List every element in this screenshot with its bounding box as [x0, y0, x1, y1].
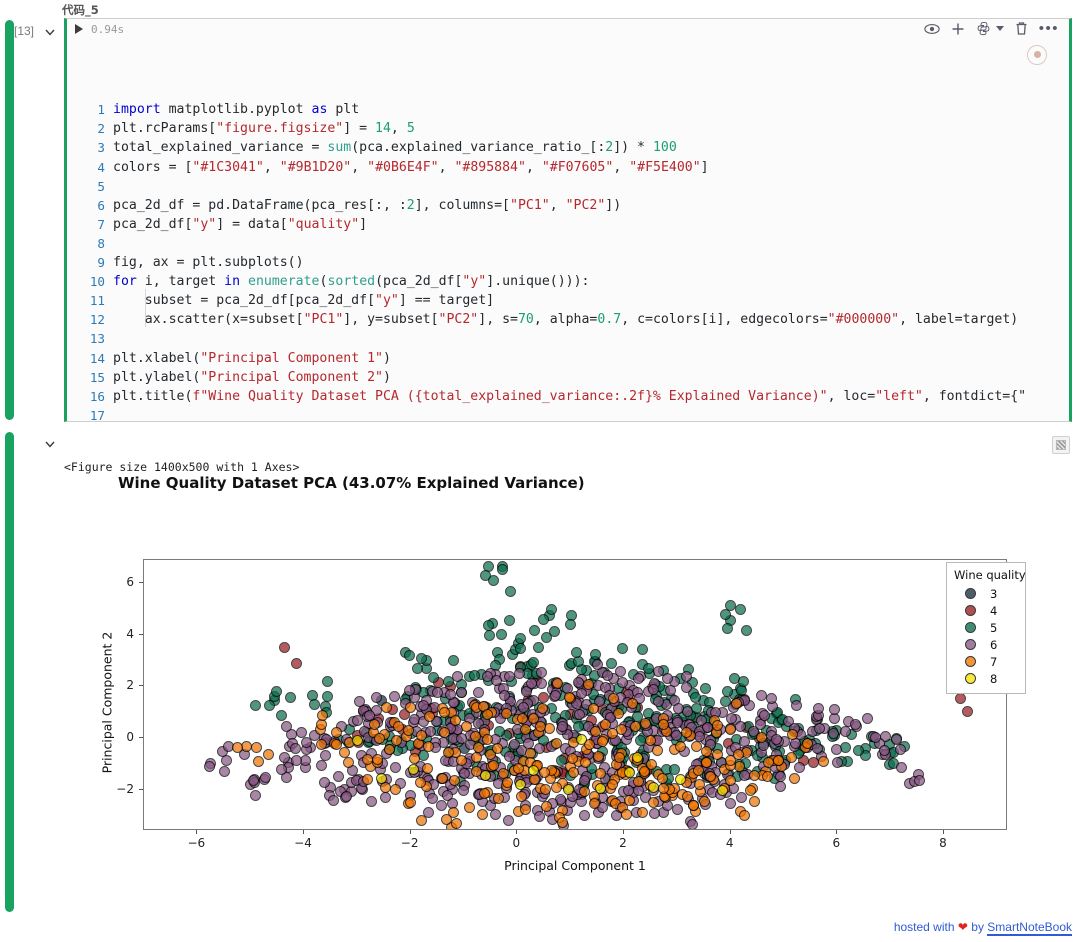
scatter-point: [775, 781, 786, 792]
scatter-point: [579, 786, 590, 797]
scatter-point: [658, 719, 669, 730]
scatter-point: [675, 774, 686, 785]
line-number: 10: [67, 272, 105, 291]
scatter-point: [376, 773, 387, 784]
scatter-point: [537, 703, 548, 714]
line-number: 6: [67, 196, 105, 215]
line-number: 5: [67, 177, 105, 196]
code-token: total_explained_variance =: [113, 140, 327, 155]
code-token: ,: [439, 160, 455, 175]
scatter-point: [616, 724, 627, 735]
scatter-point: [390, 784, 401, 795]
line-number: 14: [67, 349, 105, 368]
scatter-point: [687, 819, 698, 830]
legend-entry: 5: [954, 619, 1018, 636]
scatter-point: [488, 760, 499, 771]
code-token: 5: [407, 121, 415, 136]
scatter-point: [285, 692, 296, 703]
scatter-point: [739, 810, 750, 821]
scatter-point: [404, 650, 415, 661]
scatter-point: [648, 797, 659, 808]
code-token: ]): [605, 198, 621, 213]
scatter-point: [291, 755, 302, 766]
x-axis-tick: [623, 830, 624, 834]
plus-icon[interactable]: [951, 22, 965, 36]
code-token: "PC2": [439, 312, 479, 327]
y-axis-label: Principal Component 2: [100, 567, 115, 839]
scatter-point: [749, 796, 760, 807]
code-token: plt: [327, 102, 359, 117]
kernel-dropdown-chevron-down-icon[interactable]: [996, 26, 1004, 31]
scatter-point: [789, 773, 800, 784]
cell-toolbar: •••: [924, 21, 1059, 36]
line-number: 12: [67, 310, 105, 329]
scatter-point: [571, 647, 582, 658]
scatter-point: [301, 737, 312, 748]
line-number: 3: [67, 138, 105, 157]
code-token: , label=target): [899, 312, 1018, 327]
line-number: 2: [67, 119, 105, 138]
trash-icon[interactable]: [1015, 21, 1028, 36]
code-token: sorted: [327, 274, 375, 289]
code-token: enumerate: [248, 274, 319, 289]
scatter-point: [251, 742, 262, 753]
scatter-point: [418, 700, 429, 711]
legend-entry-label: 5: [990, 621, 997, 635]
code-token: "#000000": [828, 312, 899, 327]
x-axis-tick-label: 4: [726, 836, 734, 850]
scatter-point: [380, 792, 391, 803]
x-axis-label: Principal Component 1: [143, 858, 1007, 873]
scatter-point: [480, 770, 491, 781]
scatter-point: [250, 700, 261, 711]
legend-entry-list: 345678: [954, 585, 1018, 687]
x-axis-tick-label: 8: [939, 836, 947, 850]
line-number: 7: [67, 215, 105, 234]
code-token: "#F07605": [542, 160, 613, 175]
scatter-point: [672, 804, 683, 815]
scatter-point: [482, 734, 493, 745]
scatter-point: [276, 710, 287, 721]
code-line[interactable]: 3total_explained_variance = sum(pca.expl…: [67, 138, 1069, 157]
matplotlib-figure: Wine Quality Dataset PCA (43.07% Explain…: [64, 470, 1072, 900]
code-token: ].unique())):: [486, 274, 589, 289]
code-line[interactable]: 17: [67, 406, 1069, 422]
scatter-point: [352, 735, 363, 746]
code-token: ,: [613, 160, 629, 175]
scatter-point: [291, 658, 302, 669]
scatter-point: [637, 644, 648, 655]
scatter-point: [771, 734, 782, 745]
legend-color-swatch: [965, 622, 976, 633]
scatter-point: [675, 741, 686, 752]
line-number: 4: [67, 158, 105, 177]
legend-color-swatch: [965, 656, 976, 667]
scatter-point: [528, 713, 539, 724]
scatter-point: [701, 757, 712, 768]
scatter-point: [300, 755, 311, 766]
y-axis-tick-label: 4: [100, 627, 134, 641]
footer-credit: hosted with ❤ by SmartNoteBook: [894, 920, 1072, 934]
scatter-point: [436, 800, 447, 811]
code-token: [240, 274, 248, 289]
legend-entry: 6: [954, 636, 1018, 653]
execution-count: [13]: [14, 24, 34, 38]
code-line[interactable]: 9fig, ax = plt.subplots(): [67, 253, 1069, 272]
cell-status-bar-bottom: [5, 432, 14, 912]
scatter-point: [372, 754, 383, 765]
scatter-point: [588, 703, 599, 714]
scatter-point: [602, 670, 613, 681]
scatter-point: [592, 659, 603, 670]
scatter-point: [450, 715, 461, 726]
collapse-cell-chevron-down-icon[interactable]: [43, 25, 57, 39]
cell-runtime-label: 0.94s: [91, 23, 124, 36]
scatter-point: [589, 798, 600, 809]
scatter-point: [341, 791, 352, 802]
legend-entry-label: 6: [990, 638, 997, 652]
code-token: plt.title(: [113, 389, 192, 404]
scatter-point: [791, 700, 802, 711]
scatter-point: [437, 773, 448, 784]
code-token: ): [383, 370, 391, 385]
scatter-point: [352, 715, 363, 726]
collapse-output-chevron-down-icon[interactable]: [43, 437, 57, 451]
scatter-point: [731, 698, 742, 709]
scatter-point: [309, 699, 320, 710]
scatter-point: [814, 723, 825, 734]
scatter-point: [458, 785, 469, 796]
code-line[interactable]: 1import matplotlib.pyplot as plt: [67, 100, 1069, 119]
code-token: colors = [: [113, 160, 192, 175]
python-kernel-icon[interactable]: [976, 21, 991, 36]
scatter-point: [290, 743, 301, 754]
code-token: ): [383, 351, 391, 366]
code-line[interactable]: 12 ax.scatter(x=subset["PC1"], y=subset[…: [67, 310, 1069, 329]
scatter-point: [595, 783, 606, 794]
code-token: "y": [462, 274, 486, 289]
scatter-point: [536, 678, 547, 689]
scatter-point: [502, 777, 513, 788]
scatter-point: [608, 693, 619, 704]
scatter-point: [533, 642, 544, 653]
code-token: "#9B1D20": [280, 160, 351, 175]
scatter-point: [503, 815, 514, 826]
scatter-point: [749, 770, 760, 781]
scatter-point: [649, 808, 660, 819]
code-line[interactable]: 2plt.rcParams["figure.figsize"] = 14, 5: [67, 119, 1069, 138]
code-token: ]) *: [613, 140, 653, 155]
scatter-point: [813, 703, 824, 714]
code-token: "figure.figsize": [216, 121, 343, 136]
code-token: "PC1": [304, 312, 344, 327]
scatter-point: [516, 791, 527, 802]
eye-icon[interactable]: [924, 22, 940, 36]
y-axis-tick-label: 2: [100, 678, 134, 692]
line-number: 11: [67, 291, 105, 310]
scatter-point: [580, 757, 591, 768]
code-token: plt.rcParams[: [113, 121, 216, 136]
scatter-point: [738, 676, 749, 687]
scatter-point: [590, 726, 601, 737]
scatter-point: [490, 809, 501, 820]
code-token: "#895884": [454, 160, 525, 175]
code-token: ] == target]: [399, 293, 494, 308]
image-output-icon[interactable]: [1052, 436, 1070, 454]
y-axis-tick-label: 0: [100, 730, 134, 744]
code-token: "left": [875, 389, 923, 404]
line-number: 15: [67, 368, 105, 387]
scatter-point: [477, 809, 488, 820]
scatter-point: [576, 734, 587, 745]
x-axis-tick-label: 0: [513, 836, 521, 850]
code-line[interactable]: 10for i, target in enumerate(sorted(pca_…: [67, 272, 1069, 291]
scatter-point: [722, 623, 733, 634]
code-token: plt.xlabel(: [113, 351, 200, 366]
code-token: ], s=: [478, 312, 518, 327]
scatter-point: [551, 782, 562, 793]
code-cell[interactable]: 0.94s •••: [64, 18, 1072, 422]
scatter-point: [691, 741, 702, 752]
code-token: "quality": [288, 217, 359, 232]
scatter-point: [538, 692, 549, 703]
scatter-point: [412, 663, 423, 674]
code-token: fig, ax = plt.subplots(): [113, 255, 304, 270]
scatter-point: [483, 620, 494, 631]
x-axis-tick: [943, 830, 944, 834]
scatter-point: [914, 775, 925, 786]
code-line-list: 1import matplotlib.pyplot as plt2plt.rcP…: [67, 100, 1069, 422]
legend-entry-label: 7: [990, 655, 997, 669]
scatter-point: [705, 771, 716, 782]
scatter-point: [362, 774, 373, 785]
ellipsis-icon[interactable]: •••: [1039, 24, 1059, 34]
scatter-point: [317, 710, 328, 721]
scatter-point: [322, 676, 333, 687]
scatter-point: [633, 673, 644, 684]
code-token: in: [224, 274, 240, 289]
scatter-point: [733, 749, 744, 760]
scatter-point: [442, 790, 453, 801]
scatter-point: [423, 741, 434, 752]
scatter-point: [371, 692, 382, 703]
scatter-point: [962, 706, 973, 717]
scatter-point: [366, 796, 377, 807]
cell-title-label: 代码_5: [62, 2, 99, 18]
code-token: pca_2d_df[: [113, 217, 192, 232]
heart-icon: ❤: [958, 920, 968, 934]
legend-color-swatch: [965, 673, 976, 684]
scatter-point: [456, 687, 467, 698]
scatter-point: [955, 693, 966, 704]
y-axis-tick-label: −2: [100, 782, 134, 796]
scatter-point: [840, 726, 851, 737]
code-token: , loc=: [828, 389, 876, 404]
scatter-point: [331, 739, 342, 750]
scatter-point: [786, 752, 797, 763]
scatter-point: [534, 811, 545, 822]
scatter-point: [499, 690, 510, 701]
scatter-point: [870, 732, 881, 743]
scatter-point: [613, 708, 624, 719]
code-token: , alpha=: [534, 312, 598, 327]
scatter-point: [250, 790, 261, 801]
code-token: "y": [375, 293, 399, 308]
code-token: ]: [359, 217, 367, 232]
line-number: 9: [67, 253, 105, 272]
code-line[interactable]: 5: [67, 177, 1069, 196]
code-token: import: [113, 102, 161, 117]
code-token: sum: [327, 140, 351, 155]
legend-entry-label: 4: [990, 604, 997, 618]
code-line[interactable]: 11 subset = pca_2d_df[pca_2d_df["y"] == …: [67, 291, 1069, 310]
code-token: pca_2d_df = pd.DataFrame(pca_res[:, :: [113, 198, 407, 213]
code-token: f"Wine Quality Dataset PCA ({total_expla…: [192, 389, 827, 404]
x-axis-tick: [303, 830, 304, 834]
y-axis-tick-label: 6: [100, 575, 134, 589]
plot-area: [143, 559, 1007, 830]
x-axis-tick: [730, 830, 731, 834]
code-token: ax.scatter(x=subset[: [113, 312, 304, 327]
scatter-point: [439, 707, 450, 718]
code-line[interactable]: 15plt.ylabel("Principal Component 2"): [67, 368, 1069, 387]
scatter-point: [565, 619, 576, 630]
scatter-point: [745, 785, 756, 796]
legend-entry: 4: [954, 602, 1018, 619]
scatter-point: [681, 671, 692, 682]
scatter-point: [648, 684, 659, 695]
scatter-point: [862, 713, 873, 724]
scatter-point: [393, 721, 404, 732]
line-number: 13: [67, 329, 105, 348]
x-axis-tick: [196, 830, 197, 834]
scatter-point: [640, 718, 651, 729]
scatter-point: [735, 604, 746, 615]
scatter-point: [853, 745, 864, 756]
code-token: "Principal Component 1": [200, 351, 383, 366]
scatter-point: [725, 724, 736, 735]
code-token: 100: [653, 140, 677, 155]
scatter-point: [464, 802, 475, 813]
code-token: ,: [391, 121, 407, 136]
scatter-point: [662, 673, 673, 684]
code-token: "#1C3041": [192, 160, 263, 175]
scatter-point: [496, 629, 507, 640]
scatter-point: [253, 756, 264, 767]
code-token: 2: [407, 198, 415, 213]
scatter-point: [504, 615, 515, 626]
code-token: "Principal Component 2": [200, 370, 383, 385]
scatter-point: [607, 779, 618, 790]
scatter-point: [725, 798, 736, 809]
scatter-point: [617, 643, 628, 654]
scatter-point: [405, 702, 416, 713]
code-token: as: [312, 102, 328, 117]
scatter-point: [658, 783, 669, 794]
scatter-point: [471, 752, 482, 763]
legend-entry-label: 8: [990, 672, 997, 686]
scatter-point: [354, 696, 365, 707]
cell-status-bar-top: [5, 20, 14, 420]
code-line[interactable]: 8: [67, 234, 1069, 253]
scatter-point: [648, 782, 659, 793]
legend-color-swatch: [965, 639, 976, 650]
code-token: 70: [518, 312, 534, 327]
code-token: "PC2": [566, 198, 606, 213]
code-token: "PC1": [510, 198, 550, 213]
run-cell-icon[interactable]: [75, 24, 83, 34]
code-token: , c=colors[i], edgecolors=: [621, 312, 827, 327]
scatter-point: [699, 796, 710, 807]
footer-middle: by: [971, 920, 984, 934]
line-number: 17: [67, 406, 105, 422]
scatter-point: [563, 784, 574, 795]
legend-color-swatch: [965, 588, 976, 599]
scatter-point: [557, 721, 568, 732]
code-token: ] =: [343, 121, 375, 136]
brand-link[interactable]: SmartNoteBook: [987, 920, 1072, 936]
code-token: ], y=subset[: [343, 312, 438, 327]
scatter-point: [369, 719, 380, 730]
scatter-point: [343, 757, 354, 768]
x-axis-tick: [836, 830, 837, 834]
footer-prefix: hosted with: [894, 920, 955, 934]
code-line[interactable]: 6pca_2d_df = pd.DataFrame(pca_res[:, :2]…: [67, 196, 1069, 215]
code-line[interactable]: 14plt.xlabel("Principal Component 1"): [67, 349, 1069, 368]
x-axis-tick-label: 6: [833, 836, 841, 850]
scatter-point: [637, 807, 648, 818]
scatter-point: [443, 747, 454, 758]
legend-entry-label: 3: [990, 587, 997, 601]
scatter-point: [408, 764, 419, 775]
scatter-point: [595, 768, 606, 779]
code-token: ,: [550, 198, 566, 213]
scatter-point: [448, 655, 459, 666]
code-line[interactable]: 16plt.title(f"Wine Quality Dataset PCA (…: [67, 387, 1069, 406]
scatter-point: [574, 709, 585, 720]
scatter-point: [505, 586, 516, 597]
code-token: i, target: [137, 274, 224, 289]
scatter-point: [597, 736, 608, 747]
legend-entry: 3: [954, 585, 1018, 602]
scatter-point: [552, 678, 563, 689]
code-token: 0.7: [597, 312, 621, 327]
chart-title: Wine Quality Dataset PCA (43.07% Explain…: [118, 474, 585, 492]
scatter-point: [416, 815, 427, 826]
scatter-point: [627, 698, 638, 709]
x-axis-tick-label: −4: [294, 836, 312, 850]
scatter-point: [492, 743, 503, 754]
scatter-point: [681, 682, 692, 693]
scatter-point: [538, 614, 549, 625]
scatter-point: [484, 630, 495, 641]
code-token: 14: [375, 121, 391, 136]
code-line[interactable]: 4colors = ["#1C3041", "#9B1D20", "#0B6E4…: [67, 158, 1069, 177]
scatter-point: [459, 768, 470, 779]
code-token: "#F5E400": [629, 160, 700, 175]
code-line[interactable]: 13: [67, 329, 1069, 348]
scatter-point: [818, 756, 829, 767]
scatter-point: [219, 766, 230, 777]
scatter-point: [829, 704, 840, 715]
scatter-point: [639, 766, 650, 777]
scatter-point: [564, 692, 575, 703]
scatter-point: [529, 625, 540, 636]
code-line[interactable]: 7pca_2d_df["y"] = data["quality"]: [67, 215, 1069, 234]
line-number: 8: [67, 234, 105, 253]
scatter-point: [333, 771, 344, 782]
code-editor[interactable]: 1import matplotlib.pyplot as plt2plt.rcP…: [67, 41, 1069, 422]
